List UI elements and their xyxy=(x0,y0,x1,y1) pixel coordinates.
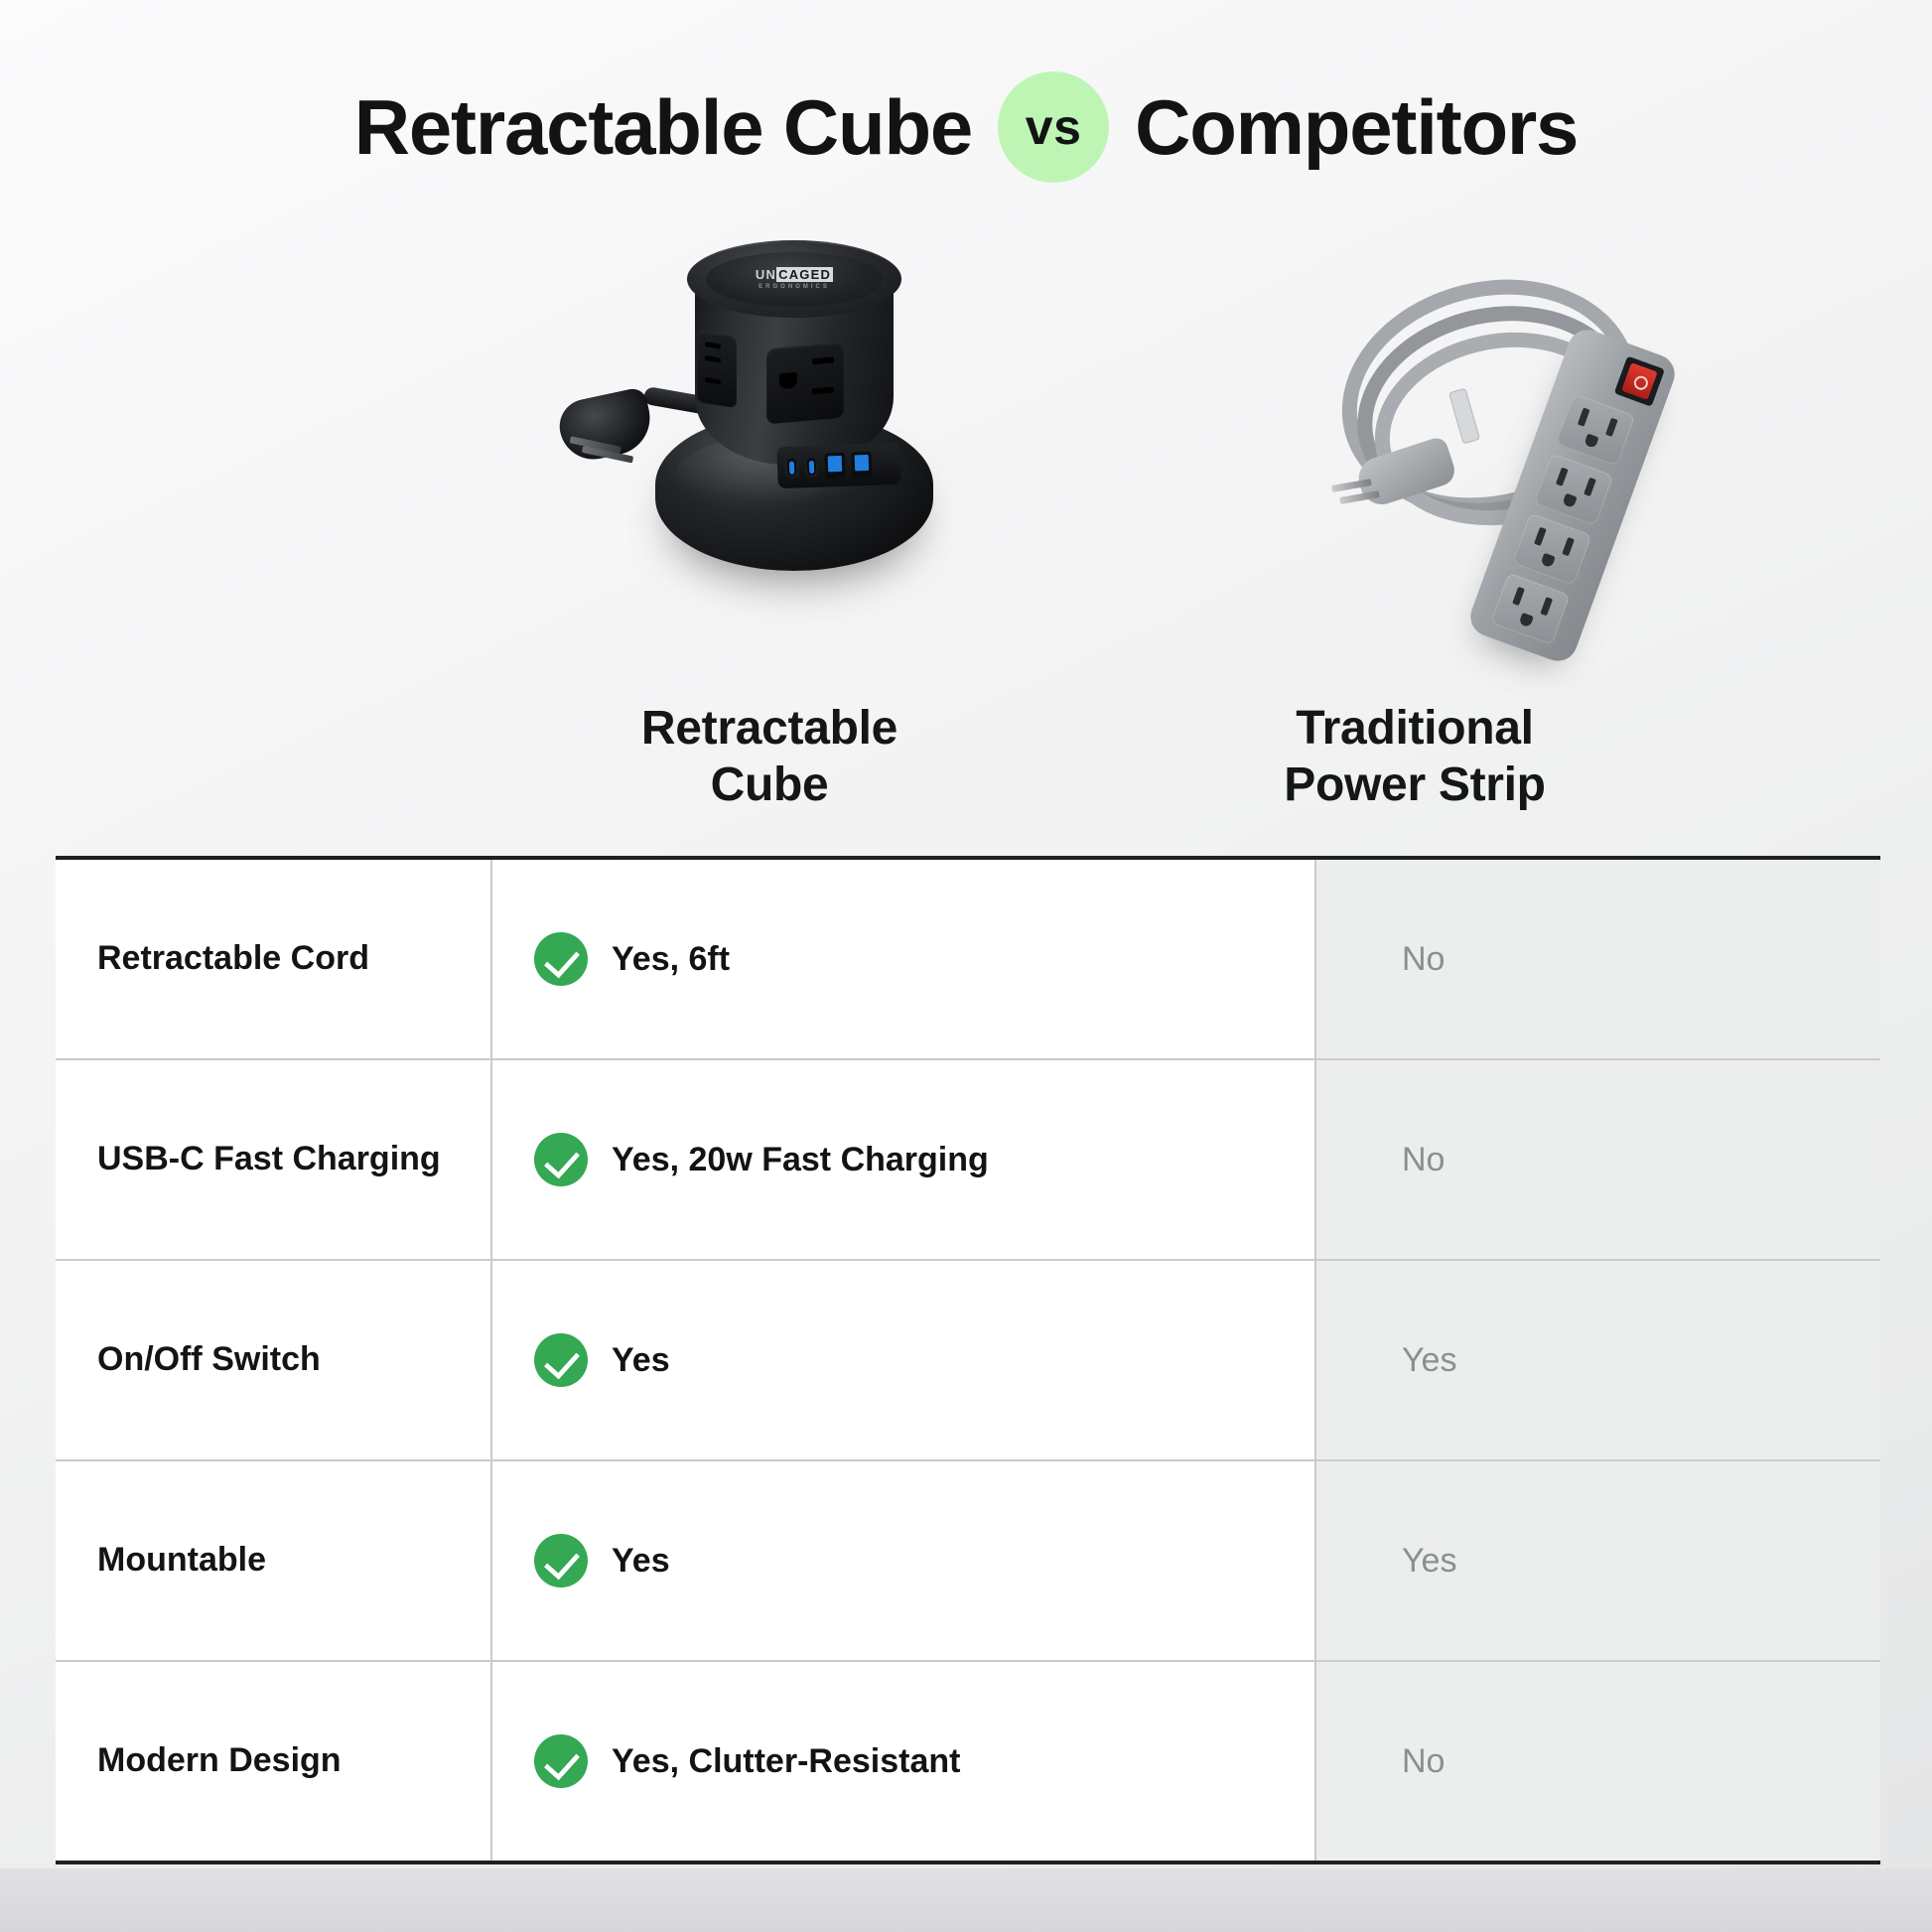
feature-label: On/Off Switch xyxy=(56,1261,492,1459)
page-title: Retractable Cube vs Competitors xyxy=(0,71,1932,183)
ours-cell: Yes, 20w Fast Charging xyxy=(492,1060,1316,1259)
power-strip-image xyxy=(1330,238,1787,675)
usb-a-port-icon xyxy=(852,452,873,479)
table-row: USB-C Fast Charging Yes, 20w Fast Chargi… xyxy=(56,1060,1880,1261)
usb-a-port-icon xyxy=(825,453,846,480)
title-left-text: Retractable Cube xyxy=(354,88,972,166)
caption-line-2: Cube xyxy=(491,758,1047,814)
cube-top-lid: UNCAGED ERGONOMICS xyxy=(687,240,901,318)
green-check-icon xyxy=(534,1534,588,1587)
ours-cell: Yes, 6ft xyxy=(492,860,1316,1058)
column-captions: Retractable Cube Traditional Power Strip xyxy=(0,701,1932,830)
strip-socket-icon xyxy=(1512,513,1591,586)
green-check-icon xyxy=(534,932,588,986)
usb-c-port-icon xyxy=(805,456,819,478)
green-check-icon xyxy=(534,1333,588,1387)
comparison-table: Retractable Cord Yes, 6ft No USB-C Fast … xyxy=(56,856,1880,1864)
caption-line-1: Retractable xyxy=(491,701,1047,758)
strip-socket-icon xyxy=(1556,393,1635,466)
feature-label: Mountable xyxy=(56,1461,492,1660)
ours-cell: Yes xyxy=(492,1261,1316,1459)
strip-socket-icon xyxy=(1490,573,1570,645)
theirs-value: Yes xyxy=(1316,1261,1880,1459)
cube-front-outlet-icon xyxy=(766,343,844,425)
table-row: Modern Design Yes, Clutter-Resistant No xyxy=(56,1662,1880,1861)
ours-value: Yes, 20w Fast Charging xyxy=(612,1140,989,1180)
table-row: On/Off Switch Yes Yes xyxy=(56,1261,1880,1461)
cube-brand-logo: UNCAGED ERGONOMICS xyxy=(706,252,882,307)
theirs-value: Yes xyxy=(1316,1461,1880,1660)
caption-line-2: Power Strip xyxy=(1067,758,1762,814)
vs-badge: vs xyxy=(998,71,1109,183)
feature-label: Retractable Cord xyxy=(56,860,492,1058)
caption-line-1: Traditional xyxy=(1067,701,1762,758)
ours-value: Yes, Clutter-Resistant xyxy=(612,1741,960,1782)
cube-usb-port-row xyxy=(776,443,900,488)
retractable-cube-image: UNCAGED ERGONOMICS xyxy=(536,228,993,675)
ours-cell: Yes, Clutter-Resistant xyxy=(492,1662,1316,1861)
strip-power-switch-icon xyxy=(1614,355,1665,406)
feature-label: Modern Design xyxy=(56,1662,492,1861)
brand-primary-text: UNCAGED xyxy=(756,268,833,281)
title-right-text: Competitors xyxy=(1135,88,1578,166)
usb-c-port-icon xyxy=(785,456,799,478)
theirs-value: No xyxy=(1316,860,1880,1058)
feature-label: USB-C Fast Charging xyxy=(56,1060,492,1259)
ours-value: Yes, 6ft xyxy=(612,939,730,980)
caption-retractable-cube: Retractable Cube xyxy=(491,701,1047,813)
theirs-value: No xyxy=(1316,1662,1880,1861)
cube-side-outlet-icon xyxy=(697,331,737,408)
product-images-band: UNCAGED ERGONOMICS xyxy=(0,228,1932,675)
cube-flat-plug-icon xyxy=(555,386,657,466)
strip-socket-icon xyxy=(1534,453,1613,525)
ours-value: Yes xyxy=(612,1541,670,1582)
ours-cell: Yes xyxy=(492,1461,1316,1660)
brand-secondary-text: ERGONOMICS xyxy=(759,284,830,290)
caption-traditional-power-strip: Traditional Power Strip xyxy=(1067,701,1762,813)
bottom-gradient-band xyxy=(0,1868,1932,1932)
table-row: Retractable Cord Yes, 6ft No xyxy=(56,860,1880,1060)
green-check-icon xyxy=(534,1133,588,1186)
theirs-value: No xyxy=(1316,1060,1880,1259)
green-check-icon xyxy=(534,1734,588,1788)
ours-value: Yes xyxy=(612,1340,670,1381)
table-row: Mountable Yes Yes xyxy=(56,1461,1880,1662)
